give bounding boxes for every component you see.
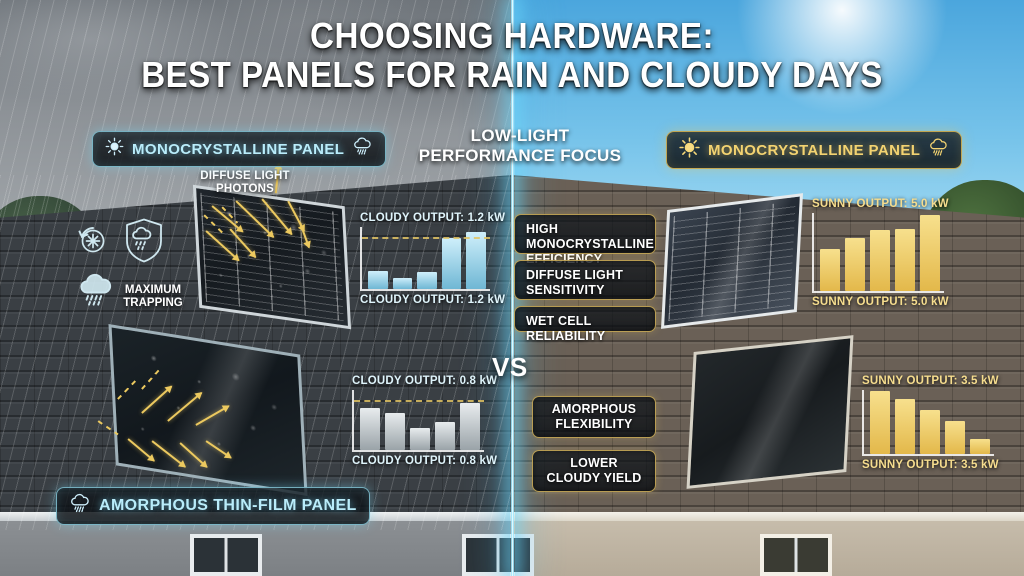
chart-bar xyxy=(820,249,840,291)
chart-sunny-monocrystalline: SUNNY OUTPUT: 5.0 kW SUNNY OUTPUT: 5.0 k… xyxy=(812,198,944,308)
maximum-trapping-label: MAXIMUM TRAPPING xyxy=(114,284,192,310)
chart-caption-bottom: SUNNY OUTPUT: 5.0 kW xyxy=(812,296,944,308)
chart-bar xyxy=(385,413,405,450)
title-line-2: BEST PANELS FOR RAIN AND CLOUDY DAYS xyxy=(41,57,983,94)
vs-label: VS xyxy=(492,352,528,383)
trapping-line-1: MAXIMUM xyxy=(114,284,192,297)
feature-diffuse-light-sensitivity[interactable]: DIFFUSE LIGHT SENSITIVITY xyxy=(514,260,656,300)
eave-right xyxy=(512,512,1024,521)
feature-lower-cloudy-yield[interactable]: LOWER CLOUDY YIELD xyxy=(532,450,656,492)
chart-plot xyxy=(360,227,490,291)
chart-cloudy-monocrystalline: CLOUDY OUTPUT: 1.2 kW CLOUDY OUTPUT: 1.2… xyxy=(360,212,490,306)
chart-plot xyxy=(862,390,994,456)
chart-caption-top: CLOUDY OUTPUT: 0.8 kW xyxy=(352,375,484,387)
rain-cloud-icon xyxy=(352,137,373,161)
center-heading: LOW-LIGHT PERFORMANCE FOCUS xyxy=(400,126,640,165)
sun-icon xyxy=(105,137,124,161)
panel-water-droplets xyxy=(112,327,305,492)
chart-bar xyxy=(368,271,388,289)
chart-bar xyxy=(435,422,455,450)
feature-wet-cell-reliability[interactable]: WET CELL RELIABILITY xyxy=(514,306,656,332)
feature-high-mono-efficiency[interactable]: HIGH MONOCRYSTALLINE EFFICIENCY xyxy=(514,214,656,254)
badge-right-monocrystalline[interactable]: MONOCRYSTALLINE PANEL xyxy=(666,131,962,169)
chart-bar xyxy=(870,230,890,291)
page-title: CHOOSING HARDWARE: BEST PANELS FOR RAIN … xyxy=(0,18,1024,93)
feature-label: LOWER CLOUDY YIELD xyxy=(544,456,644,486)
chart-caption-bottom: SUNNY OUTPUT: 3.5 kW xyxy=(862,459,994,471)
feature-label: WET CELL RELIABILITY xyxy=(526,314,605,343)
chart-bar xyxy=(417,272,437,289)
chart-bar xyxy=(920,410,940,454)
annotation-line-1: DIFFUSE LIGHT xyxy=(182,170,308,183)
chart-bar xyxy=(410,428,430,450)
center-heading-line-2: PERFORMANCE FOCUS xyxy=(400,146,640,166)
badge-label: MONOCRYSTALLINE PANEL xyxy=(132,141,344,158)
chart-reference-line xyxy=(362,237,490,239)
panel-surface xyxy=(687,335,854,489)
panel-glare xyxy=(690,338,851,485)
shield-rain-icon xyxy=(122,216,166,264)
light-recycle-icon xyxy=(74,222,110,258)
panel-cell-grid xyxy=(668,201,795,321)
chart-caption-top: SUNNY OUTPUT: 3.5 kW xyxy=(862,375,994,387)
chart-caption-bottom: CLOUDY OUTPUT: 1.2 kW xyxy=(360,294,490,306)
chart-reference-line xyxy=(354,400,484,402)
facade-window-1 xyxy=(190,534,262,576)
chart-caption-bottom: CLOUDY OUTPUT: 0.8 kW xyxy=(352,455,484,467)
chart-bar xyxy=(442,238,462,289)
right-amorphous-thinfilm-panel[interactable] xyxy=(687,335,854,489)
chart-plot xyxy=(352,390,484,452)
facade-window-2 xyxy=(462,534,534,576)
chart-bar xyxy=(360,408,380,450)
chart-bar xyxy=(466,232,486,289)
chart-bar xyxy=(845,238,865,291)
chart-bar xyxy=(895,229,915,291)
chart-cloudy-amorphous: CLOUDY OUTPUT: 0.8 kW CLOUDY OUTPUT: 0.8… xyxy=(352,375,484,467)
chart-bar xyxy=(393,278,413,289)
annotation-diffuse-light-photons: DIFFUSE LIGHT PHOTONS xyxy=(182,170,308,196)
badge-amorphous-thinfilm[interactable]: AMORPHOUS THIN-FILM PANEL xyxy=(56,487,370,525)
facade-window-3 xyxy=(760,534,832,576)
chart-bar xyxy=(895,399,915,454)
chart-caption-top: CLOUDY OUTPUT: 1.2 kW xyxy=(360,212,490,224)
feature-label: DIFFUSE LIGHT SENSITIVITY xyxy=(526,268,623,297)
feature-label: AMORPHOUS FLEXIBILITY xyxy=(544,402,644,432)
rain-cloud-icon xyxy=(928,138,949,162)
chart-bar xyxy=(945,421,965,454)
sun-icon xyxy=(679,137,700,163)
chart-plot xyxy=(812,213,944,293)
title-line-1: CHOOSING HARDWARE: xyxy=(41,18,983,55)
right-monocrystalline-panel[interactable] xyxy=(661,193,803,329)
feature-amorphous-flexibility[interactable]: AMORPHOUS FLEXIBILITY xyxy=(532,396,656,438)
annotation-line-2: PHOTONS xyxy=(182,183,308,196)
center-heading-line-1: LOW-LIGHT xyxy=(400,126,640,146)
badge-label: MONOCRYSTALLINE PANEL xyxy=(708,142,920,159)
left-monocrystalline-panel[interactable] xyxy=(193,185,351,330)
badge-label: AMORPHOUS THIN-FILM PANEL xyxy=(99,497,357,515)
trapping-line-2: TRAPPING xyxy=(114,297,192,310)
rain-cloud-icon xyxy=(76,272,118,314)
chart-bar xyxy=(920,215,940,291)
panel-surface xyxy=(661,193,803,329)
badge-left-monocrystalline[interactable]: MONOCRYSTALLINE PANEL xyxy=(92,131,386,167)
chart-sunny-amorphous: SUNNY OUTPUT: 3.5 kW SUNNY OUTPUT: 3.5 k… xyxy=(862,375,994,471)
rain-cloud-icon xyxy=(69,493,91,519)
chart-caption-top: SUNNY OUTPUT: 5.0 kW xyxy=(812,198,944,210)
chart-bar xyxy=(970,439,990,454)
infographic-canvas: CHOOSING HARDWARE: BEST PANELS FOR RAIN … xyxy=(0,0,1024,576)
chart-bar xyxy=(870,391,890,454)
panel-surface xyxy=(193,185,351,330)
chart-bar xyxy=(460,403,480,450)
